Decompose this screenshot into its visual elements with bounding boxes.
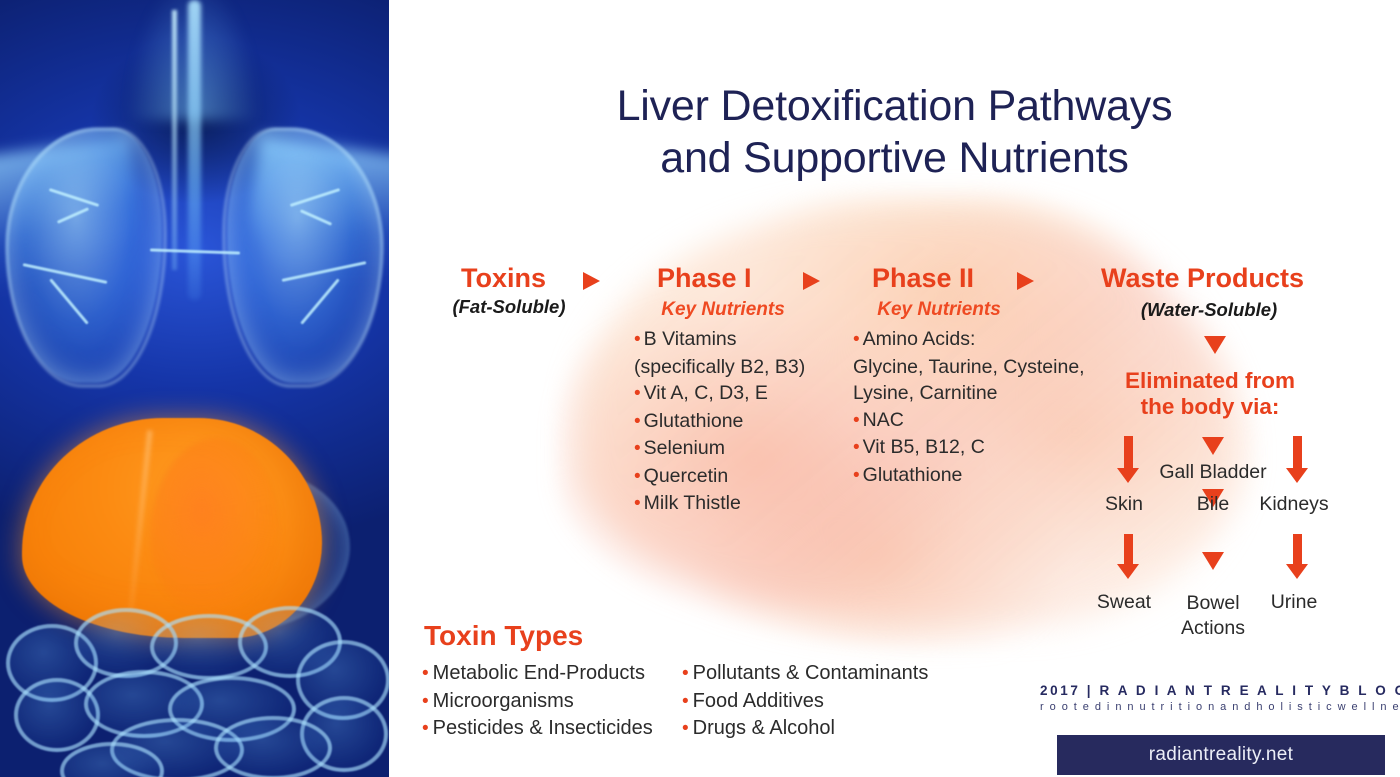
bullet-icon: • (682, 718, 689, 739)
list-item: •B Vitamins (634, 326, 805, 354)
arrow-down-icon (1286, 468, 1308, 483)
intestines (0, 600, 389, 777)
eliminated-heading-line-1: Eliminated from (1095, 368, 1325, 394)
list-item: •Food Additives (682, 688, 928, 716)
list-item-label: Glutathione (644, 410, 744, 432)
list-item: •Vit B5, B12, C (853, 434, 1085, 462)
triangle-right-icon (583, 272, 600, 290)
page-title-line-1: Liver Detoxification Pathways (389, 80, 1400, 132)
list-item-label: Quercetin (644, 465, 729, 487)
bullet-icon: • (634, 493, 641, 514)
toxin-types-heading: Toxin Types (424, 620, 583, 652)
list-item: •NAC (853, 407, 1085, 435)
list-item-label: Vit B5, B12, C (863, 436, 985, 458)
list-item-label: Pollutants & Contaminants (693, 662, 929, 684)
phase-1-nutrient-list: •B Vitamins (specifically B2, B3) •Vit A… (634, 326, 805, 518)
list-item: •Pesticides & Insecticides (422, 715, 653, 743)
list-item: Lysine, Carnitine (853, 380, 1085, 407)
lung-left-outline (6, 128, 166, 387)
list-item-label: Amino Acids: (863, 328, 976, 350)
bullet-icon: • (634, 466, 641, 487)
bullet-icon: • (422, 663, 429, 684)
eliminated-heading-line-2: the body via: (1095, 394, 1325, 420)
liver-right-lobe (150, 438, 280, 618)
list-item: •Drugs & Alcohol (682, 715, 928, 743)
list-item-label: Food Additives (693, 690, 824, 712)
toxin-types-column-2: •Pollutants & Contaminants •Food Additiv… (682, 660, 928, 743)
list-item-label: Microorganisms (433, 690, 574, 712)
stage-heading-phase-1: Phase I (657, 263, 752, 294)
arrow-down-shaft-urine (1293, 534, 1302, 566)
list-item: •Selenium (634, 435, 805, 463)
trachea (172, 10, 177, 270)
list-item-label: Vit A, C, D3, E (644, 382, 768, 404)
toxin-types-column-1: •Metabolic End-Products •Microorganisms … (422, 660, 653, 743)
brand-title: 2017 | R A D I A N T R E A L I T Y B L O… (1040, 683, 1385, 698)
phase-1-subtitle: Key Nutrients (643, 299, 803, 321)
arrow-down-shaft-sweat (1124, 534, 1133, 566)
bullet-icon: • (634, 329, 641, 350)
list-item: •Vit A, C, D3, E (634, 380, 805, 408)
arrow-down-icon (1202, 437, 1224, 455)
content-panel: Liver Detoxification Pathways and Suppor… (389, 0, 1400, 777)
list-item-label: Metabolic End-Products (433, 662, 645, 684)
toxins-subtitle: (Fat-Soluble) (429, 296, 589, 318)
list-item: •Amino Acids: (853, 326, 1085, 354)
waste-products-subtitle: (Water-Soluble) (1079, 299, 1339, 321)
list-item-label: Lysine, Carnitine (853, 382, 998, 404)
small-intestine-loop (214, 716, 332, 777)
elimination-output-urine: Urine (1234, 591, 1354, 614)
bullet-icon: • (853, 329, 860, 350)
list-item-label: Selenium (644, 437, 725, 459)
list-item-label: B Vitamins (644, 328, 737, 350)
website-url-label: radiantreality.net (1149, 744, 1293, 766)
website-url-bar[interactable]: radiantreality.net (1057, 735, 1385, 775)
phase-2-nutrient-list: •Amino Acids: Glycine, Taurine, Cysteine… (853, 326, 1085, 489)
arrow-down-shaft-skin (1124, 436, 1133, 470)
brand-credit: 2017 | R A D I A N T R E A L I T Y B L O… (1040, 683, 1385, 713)
arrow-down-icon (1286, 564, 1308, 579)
list-item: •Glutathione (634, 408, 805, 436)
arrow-down-icon (1202, 552, 1224, 570)
list-item: Glycine, Taurine, Cysteine, (853, 354, 1085, 381)
list-item: •Milk Thistle (634, 490, 805, 518)
bullet-icon: • (422, 691, 429, 712)
list-item-label: (specifically B2, B3) (634, 356, 805, 378)
list-item: •Glutathione (853, 462, 1085, 490)
infographic-canvas: Liver Detoxification Pathways and Suppor… (0, 0, 1400, 777)
list-item-label: Glutathione (863, 464, 963, 486)
list-item-label: NAC (863, 409, 904, 431)
list-item-label: Pesticides & Insecticides (433, 717, 653, 739)
arrow-down-shaft-kidneys (1293, 436, 1302, 470)
list-item-label: Drugs & Alcohol (693, 717, 835, 739)
page-title-line-2: and Supportive Nutrients (389, 132, 1400, 184)
bullet-icon: • (853, 410, 860, 431)
bullet-icon: • (634, 411, 641, 432)
eliminated-heading: Eliminated from the body via: (1095, 368, 1325, 420)
brand-tagline: r o o t e d i n n u t r i t i o n a n d … (1040, 701, 1385, 713)
stage-heading-toxins: Toxins (461, 263, 546, 294)
arrow-down-icon (1117, 468, 1139, 483)
bullet-icon: • (853, 437, 860, 458)
lung-right-outline (223, 128, 383, 387)
elimination-organ-kidneys: Kidneys (1234, 493, 1354, 516)
list-item: •Metabolic End-Products (422, 660, 653, 688)
bowel-actions-line-2: Actions (1143, 616, 1283, 641)
arrow-down-icon (1204, 336, 1226, 354)
bullet-icon: • (682, 691, 689, 712)
list-item-label: Milk Thistle (644, 492, 741, 514)
list-item: (specifically B2, B3) (634, 354, 805, 381)
human-torso-xray-illustration (0, 0, 389, 777)
list-item: •Microorganisms (422, 688, 653, 716)
arrow-down-icon (1117, 564, 1139, 579)
bullet-icon: • (634, 438, 641, 459)
list-item: •Pollutants & Contaminants (682, 660, 928, 688)
list-item-label: Glycine, Taurine, Cysteine, (853, 356, 1085, 378)
elimination-organ-gall-bladder: Gall Bladder (1143, 461, 1283, 484)
spine (188, 0, 201, 300)
bullet-icon: • (682, 663, 689, 684)
stage-heading-waste-products: Waste Products (1101, 263, 1304, 294)
triangle-right-icon (1017, 272, 1034, 290)
stage-heading-phase-2: Phase II (872, 263, 974, 294)
list-item: •Quercetin (634, 463, 805, 491)
page-title: Liver Detoxification Pathways and Suppor… (389, 80, 1400, 185)
phase-2-subtitle: Key Nutrients (859, 299, 1019, 321)
triangle-right-icon (803, 272, 820, 290)
bullet-icon: • (853, 465, 860, 486)
bullet-icon: • (634, 383, 641, 404)
bullet-icon: • (422, 718, 429, 739)
